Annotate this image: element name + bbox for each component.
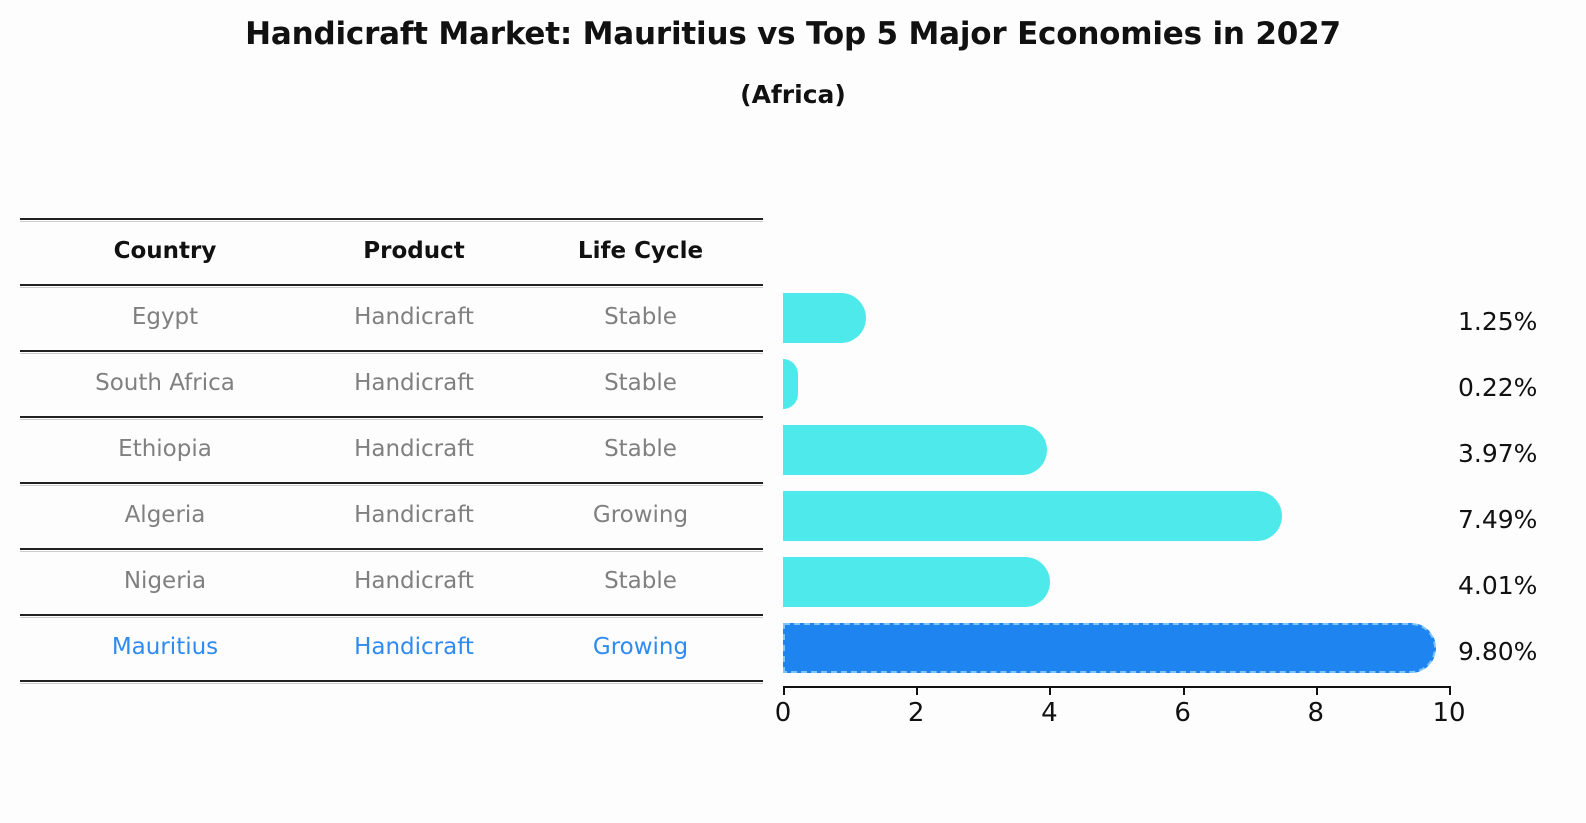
- cell-life-cycle: Stable: [518, 568, 763, 594]
- bar-mauritius[interactable]: [783, 623, 1436, 673]
- cell-life-cycle: Growing: [518, 634, 763, 660]
- x-axis-tick-label: 6: [1153, 698, 1213, 728]
- bar-ethiopia[interactable]: [783, 425, 1047, 475]
- column-header-life-cycle: Life Cycle: [518, 238, 763, 264]
- cell-life-cycle: Growing: [518, 502, 763, 528]
- bar-row: [783, 285, 1449, 351]
- table-row[interactable]: Egypt Handicraft Stable: [20, 284, 763, 350]
- table-row-highlighted[interactable]: Mauritius Handicraft Growing: [20, 614, 763, 680]
- value-label: 9.80%: [1458, 637, 1582, 666]
- bar-row: [783, 417, 1449, 483]
- x-axis-tick-label: 8: [1286, 698, 1346, 728]
- table-bottom-rule: [20, 680, 763, 682]
- column-header-country: Country: [20, 238, 310, 264]
- chart-page: Handicraft Market: Mauritius vs Top 5 Ma…: [0, 0, 1586, 823]
- cell-product: Handicraft: [310, 304, 518, 330]
- x-axis-line: [783, 686, 1449, 688]
- cell-country: Nigeria: [20, 568, 310, 594]
- x-axis-tick: [1049, 686, 1051, 695]
- cell-product: Handicraft: [310, 568, 518, 594]
- bar-nigeria[interactable]: [783, 557, 1050, 607]
- cell-life-cycle: Stable: [518, 436, 763, 462]
- table-row[interactable]: Nigeria Handicraft Stable: [20, 548, 763, 614]
- value-label: 0.22%: [1458, 373, 1582, 402]
- bar-algeria[interactable]: [783, 491, 1282, 541]
- table-row[interactable]: South Africa Handicraft Stable: [20, 350, 763, 416]
- value-label: 1.25%: [1458, 307, 1582, 336]
- cell-country: Ethiopia: [20, 436, 310, 462]
- x-axis-tick: [783, 686, 785, 695]
- column-header-product: Product: [310, 238, 518, 264]
- x-axis-tick-label: 4: [1019, 698, 1079, 728]
- bar-row: [783, 615, 1449, 681]
- cell-country: Algeria: [20, 502, 310, 528]
- bar-chart-plot-area: [783, 285, 1449, 685]
- page-title: Handicraft Market: Mauritius vs Top 5 Ma…: [0, 16, 1586, 52]
- x-axis-tick-label: 10: [1419, 698, 1479, 728]
- cell-country: Egypt: [20, 304, 310, 330]
- x-axis-tick-label: 0: [753, 698, 813, 728]
- table-row[interactable]: Ethiopia Handicraft Stable: [20, 416, 763, 482]
- x-axis-tick: [1183, 686, 1185, 695]
- x-axis-tick-label: 2: [886, 698, 946, 728]
- table-bottom-rule-thin: [20, 683, 763, 684]
- bar-row: [783, 351, 1449, 417]
- bar-row: [783, 549, 1449, 615]
- table-header-row: Country Product Life Cycle: [20, 218, 763, 284]
- bar-south-africa[interactable]: [783, 359, 798, 409]
- x-axis-tick: [1316, 686, 1318, 695]
- bar-row: [783, 483, 1449, 549]
- cell-product: Handicraft: [310, 436, 518, 462]
- value-label: 3.97%: [1458, 439, 1582, 468]
- cell-product: Handicraft: [310, 634, 518, 660]
- x-axis-tick: [916, 686, 918, 695]
- x-axis-tick: [1449, 686, 1451, 695]
- cell-life-cycle: Stable: [518, 304, 763, 330]
- page-subtitle: (Africa): [0, 80, 1586, 109]
- value-label: 7.49%: [1458, 505, 1582, 534]
- cell-country: South Africa: [20, 370, 310, 396]
- cell-country: Mauritius: [20, 634, 310, 660]
- cell-life-cycle: Stable: [518, 370, 763, 396]
- table-row[interactable]: Algeria Handicraft Growing: [20, 482, 763, 548]
- value-label: 4.01%: [1458, 571, 1582, 600]
- cell-product: Handicraft: [310, 370, 518, 396]
- bar-egypt[interactable]: [783, 293, 866, 343]
- cell-product: Handicraft: [310, 502, 518, 528]
